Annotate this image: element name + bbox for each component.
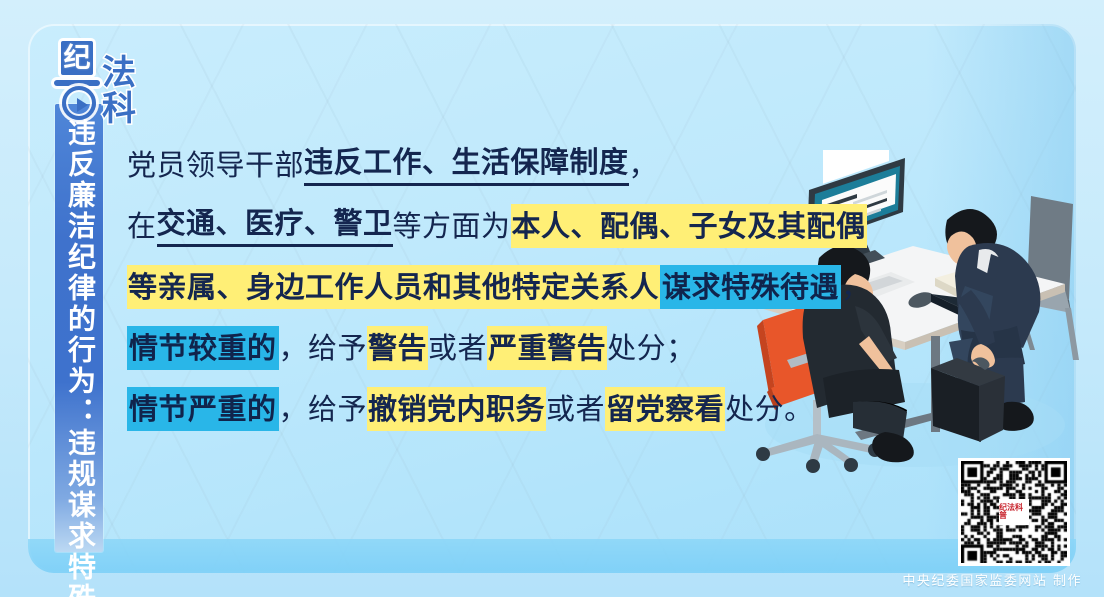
vertical-title-text: 违反廉洁纪律的行为：违规谋求特殊待遇 <box>55 118 103 597</box>
text-segment-yellow: 留党察看 <box>605 387 725 431</box>
play-button-icon <box>62 86 96 120</box>
text-segment-plain: 在 <box>127 207 157 245</box>
text-segment-plain: ， <box>629 146 659 184</box>
text-segment-yellow: 本人、配偶、子女及其配偶 <box>511 204 867 248</box>
logo-char-ji: 纪 <box>58 38 96 78</box>
logo-char-ke: 科 <box>102 92 136 126</box>
qr-center-logo: 纪法科普 <box>999 499 1029 525</box>
regulation-text-block: 党员领导干部违反工作、生活保障制度，在交通、医疗、警卫等方面为本人、配偶、子女及… <box>127 134 827 439</box>
text-segment-yellow: 等亲属、身边工作人员和其他特定关系人 <box>127 265 660 309</box>
text-segment-yellow: 警告 <box>367 326 428 370</box>
qr-center-logo-text: 纪法科普 <box>999 504 1029 520</box>
regulation-line: 情节较重的，给予警告或者严重警告处分； <box>127 317 827 378</box>
text-segment-plain: 党员领导干部 <box>127 146 304 184</box>
text-segment-cyan: 谋求特殊待遇 <box>660 265 841 309</box>
text-segment-underline: 交通、医疗、警卫 <box>157 204 393 247</box>
vertical-title-banner: 违反廉洁纪律的行为：违规谋求特殊待遇 <box>55 104 103 552</box>
brand-logo: 纪 法 科 <box>52 36 148 132</box>
text-segment-plain: 或者 <box>428 329 487 367</box>
text-segment-plain: ，给予 <box>279 390 368 428</box>
text-segment-underline: 违反工作、生活保障制度 <box>304 143 629 186</box>
background-floor-band <box>28 539 1076 573</box>
text-segment-yellow: 严重警告 <box>487 326 607 370</box>
text-segment-cyan: 情节严重的 <box>127 387 279 431</box>
text-segment-plain: 或者 <box>546 390 605 428</box>
qr-code[interactable]: 纪法科普 <box>958 458 1070 566</box>
text-segment-plain: ， <box>841 268 871 306</box>
logo-char-fa: 法 <box>102 56 136 90</box>
text-segment-plain: 等方面为 <box>393 207 511 245</box>
text-segment-plain: 处分； <box>607 329 696 367</box>
text-segment-yellow: 撤销党内职务 <box>367 387 546 431</box>
regulation-line: 情节严重的，给予撤销党内职务或者留党察看处分。 <box>127 378 827 439</box>
regulation-line: 等亲属、身边工作人员和其他特定关系人谋求特殊待遇， <box>127 256 827 317</box>
regulation-line: 党员领导干部违反工作、生活保障制度， <box>127 134 827 195</box>
poster-root: 纪 法 科 违反廉洁纪律的行为：违规谋求特殊待遇 党员领导干部违反工作、生活保障… <box>0 0 1104 597</box>
footer-credit: 中央纪委国家监委网站 制作 <box>902 570 1082 589</box>
text-segment-cyan: 情节较重的 <box>127 326 279 370</box>
text-segment-plain: ，给予 <box>279 329 368 367</box>
text-segment-plain: 处分。 <box>725 390 814 428</box>
regulation-line: 在交通、医疗、警卫等方面为本人、配偶、子女及其配偶 <box>127 195 827 256</box>
